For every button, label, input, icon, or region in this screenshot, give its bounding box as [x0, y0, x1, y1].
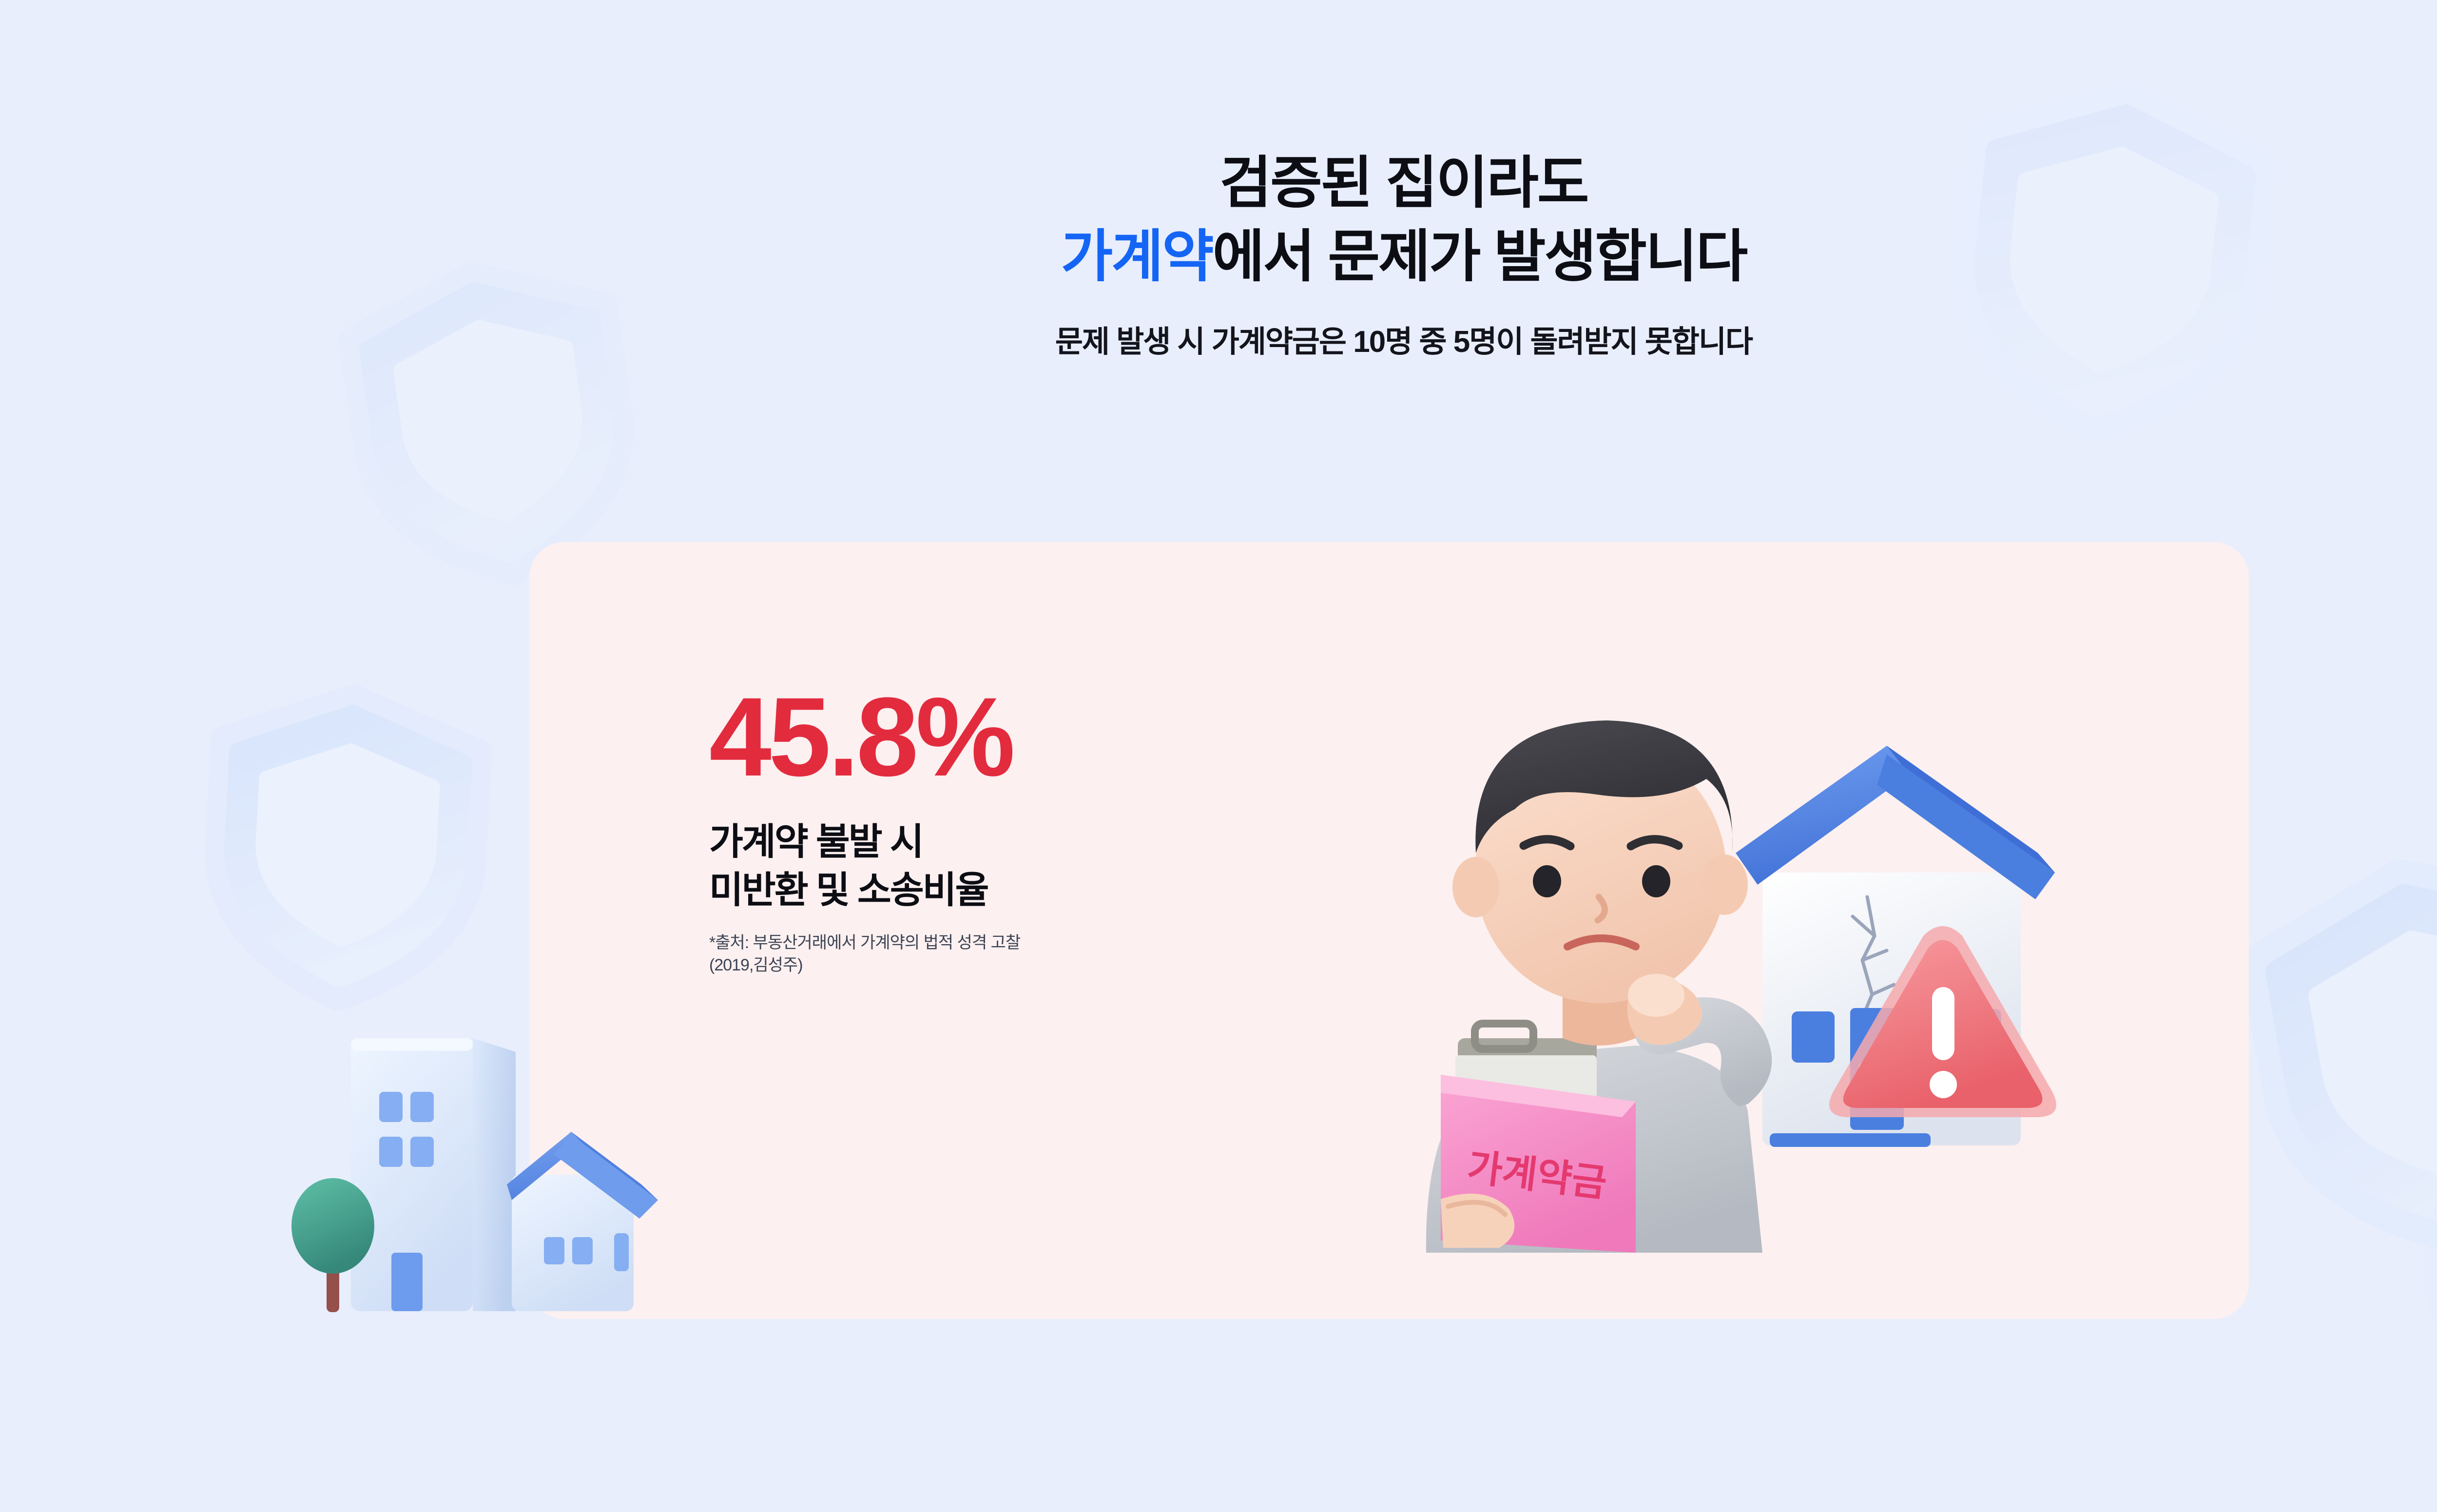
stat-title: 가계약 불발 시 미반환 및 소송비율: [709, 818, 1020, 915]
stat-percentage: 45.8%: [709, 681, 1020, 793]
stat-card: 45.8% 가계약 불발 시 미반환 및 소송비율 *출처: 부동산거래에서 가…: [529, 542, 2249, 1319]
shield-icon-bottom-right: [2386, 1095, 2437, 1440]
city-decoration-group: [273, 1024, 712, 1345]
headline-line-1: 검증된 집이라도: [0, 146, 2437, 220]
headline-highlight-term: 가계약: [1061, 225, 1213, 288]
header-block: 검증된 집이라도 가계약에서 문제가 발생합니다 문제 발생 시 가계약금은 1…: [0, 146, 2437, 361]
apartment-building: [351, 1038, 516, 1311]
subheadline: 문제 발생 시 가계약금은 10명 중 5명이 돌려받지 못합니다: [0, 317, 2437, 361]
illustration-group: 가계약금: [1295, 600, 2123, 1253]
headline-line-2: 가계약에서 문제가 발생합니다: [0, 220, 2437, 293]
stat-block: 45.8% 가계약 불발 시 미반환 및 소송비율 *출처: 부동산거래에서 가…: [709, 681, 1020, 976]
stat-source-note: *출처: 부동산거래에서 가계약의 법적 성격 고찰 (2019,김성주): [709, 931, 1020, 976]
small-house: [507, 1132, 658, 1311]
headline-line-2-rest: 에서 문제가 발생합니다: [1213, 225, 1747, 288]
shield-icon-middle-left: [186, 670, 506, 1026]
worried-person-illustration: 가계약금: [1426, 720, 1772, 1253]
